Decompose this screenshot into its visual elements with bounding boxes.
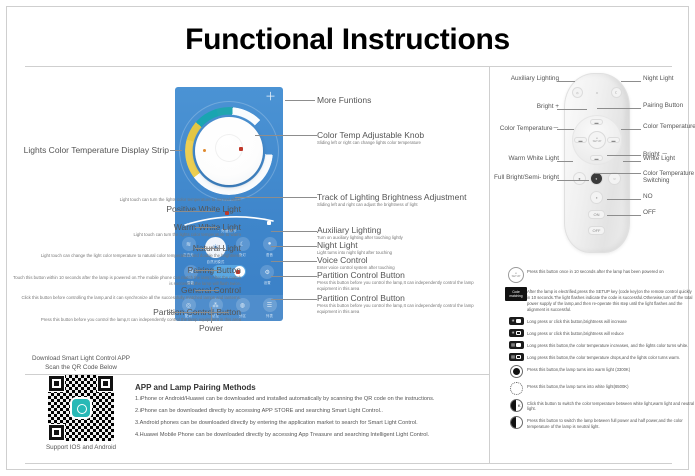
callout-partition-control-left: Partition Control Button Press this butt… — [13, 307, 241, 323]
app-pairing-item: 2.iPhone can be downloaded directly by a… — [135, 408, 383, 414]
plus-icon[interactable]: ＋ — [265, 93, 276, 101]
remote-label-no: NO — [643, 193, 653, 200]
remote-label-bright-up: Bright + — [501, 103, 559, 110]
leader-line — [211, 307, 212, 323]
remote-key-auxiliary-lighting[interactable]: ☼ — [572, 87, 583, 98]
legend-text: Long press or click this button,brightne… — [527, 329, 624, 337]
phone-btn-label: 设置 — [264, 280, 271, 285]
leader-line — [195, 227, 217, 228]
remote-key-warm-white-light[interactable]: ● — [573, 172, 586, 185]
leader-line — [621, 129, 641, 130]
brightness-down-icon: ☀ — [505, 329, 527, 337]
knob-face[interactable] — [195, 117, 263, 185]
leader-line — [557, 109, 587, 110]
remote-key-night-light[interactable]: ☾ — [611, 87, 622, 98]
legend-text: Click this button to switch the color te… — [527, 399, 695, 413]
leader-line — [271, 231, 317, 232]
legend-text: Press this button,the lamp turns into wa… — [527, 365, 630, 373]
list-icon[interactable]: ☰ — [263, 298, 277, 312]
leader-line — [195, 248, 225, 249]
app-pairing-item: 4.Huawei Mobile Phone can be downloaded … — [135, 432, 429, 438]
legend-row-warm-light: Press this button,the lamp turns into wa… — [505, 365, 695, 378]
leader-line — [255, 135, 317, 136]
leader-line — [557, 180, 589, 181]
callout-power: Power — [199, 323, 223, 333]
remote-key-bright-down[interactable]: ▬ — [590, 155, 603, 161]
qr-finder-bl — [48, 424, 65, 441]
white-light-icon — [505, 382, 527, 395]
remote-label-color-temp-switching: Color Temperature Switching — [643, 170, 695, 184]
leader-line — [595, 173, 641, 174]
remote-key-pairing[interactable]: ≋ SETUP — [588, 131, 606, 149]
remote-key-full-semi-bright[interactable]: ◑ — [590, 191, 603, 204]
qr-line1: Download Smart Light Control APP — [27, 354, 135, 363]
legend-text: Press this button to switch the lamp bet… — [527, 416, 695, 430]
legend-text: Long press this button,the color tempera… — [527, 341, 688, 349]
setup-button-icon: ≋SETUP — [505, 267, 527, 283]
remote-key-bright-up[interactable]: ▬ — [590, 119, 603, 125]
qr-line2: Scan the QR Code Below — [27, 363, 135, 372]
callout-night-light: Night Light Light turns into night light… — [317, 240, 492, 256]
legend-row-white-light: Press this button,the lamp turns into wh… — [505, 382, 695, 395]
page-title: Functional Instructions — [7, 23, 688, 57]
leader-line — [557, 129, 574, 130]
leader-line — [170, 150, 182, 151]
phone-btn-settings[interactable]: ⚙ 设置 — [254, 265, 280, 285]
legend-row-half-power: Press this button to switch the lamp bet… — [505, 416, 695, 430]
color-temp-knob[interactable] — [185, 107, 273, 195]
mic-icon[interactable]: ● — [263, 237, 277, 251]
legend-row-color-temp-down: ▤ Long press this button,the color tempe… — [505, 353, 695, 361]
remote-led — [596, 92, 598, 94]
leader-line — [167, 312, 229, 313]
app-pairing-heading: APP and Lamp Pairing Methods — [135, 383, 256, 392]
legend-row-setup: ≋SETUP Press this button once in 10 seco… — [505, 267, 695, 283]
code-matching-icon: Code matching — [505, 287, 527, 301]
legend-row-brightness-down: ☀ Long press or click this button,bright… — [505, 329, 695, 337]
remote-control: ☼ ☾ ≋ SETUP ▬ ▬ ▬ ▬ ● ◐ ○ ◑ ON OFF — [564, 73, 630, 253]
leader-line — [607, 199, 641, 200]
qr-logo — [72, 399, 90, 417]
callout-natural-light: Natural Light Light touch can change the… — [13, 243, 241, 259]
callout-general-control: General Control Click this button before… — [13, 285, 241, 301]
legend-row-color-temp-up: ▤ Long press this button,the color tempe… — [505, 341, 695, 349]
divider-top — [25, 66, 672, 67]
remote-key-on[interactable]: ON — [588, 210, 605, 219]
qr-block: Download Smart Light Control APP Scan th… — [27, 354, 135, 452]
legend-text: After the lamp is electrified,press the … — [527, 287, 695, 313]
instruction-sheet: Functional Instructions ＋ · 亮度调节 · — [6, 6, 689, 470]
qr-finder-tl — [48, 375, 65, 392]
brightness-up-icon: ☀ — [505, 317, 527, 325]
callout-brightness-track: Track of Lighting Brightness Adjustment … — [317, 192, 492, 208]
half-moon-icon: K — [505, 399, 527, 412]
divider-bottom — [25, 463, 672, 464]
color-temp-down-icon: ▤ — [505, 353, 527, 361]
qr-finder-tr — [97, 375, 114, 392]
marker-strip — [203, 149, 206, 152]
phone-btn-label: 自然光模式 — [207, 259, 225, 264]
remote-label-color-temp-up: Color Temperature+ — [643, 123, 695, 130]
remote-label-white-light: White Light — [643, 155, 675, 162]
leader-line — [195, 290, 219, 291]
leader-line — [621, 81, 641, 82]
qr-caption: Support IOS and Android — [27, 443, 135, 452]
warm-light-icon — [505, 365, 527, 378]
phone-btn-label: 语音 — [266, 252, 273, 257]
legend-list: ≋SETUP Press this button once in 10 seco… — [505, 267, 695, 434]
callout-voice-control: Voice Control Enter voice control system… — [317, 255, 492, 271]
remote-key-off[interactable]: OFF — [588, 226, 605, 235]
legend-row-brightness-up: ☀ Long press or click this button,bright… — [505, 317, 695, 325]
remote-label-night-light: Night Light — [643, 75, 674, 82]
leader-line — [607, 215, 641, 216]
marker-knob — [239, 147, 243, 151]
legend-row-code-matching: Code matching After the lamp is electrif… — [505, 287, 695, 313]
setup-label: SETUP — [593, 140, 602, 143]
phone-btn-label: 列表 — [266, 313, 273, 318]
leader-line — [271, 246, 317, 247]
remote-key-color-temp-up[interactable]: ▬ — [607, 137, 620, 143]
qr-code-image — [48, 375, 114, 441]
color-temp-up-icon: ▤ — [505, 341, 527, 349]
legend-text: Press this button once in 10 seconds aft… — [527, 267, 664, 275]
callout-pairing-button: Pairing Button Touch this button within … — [13, 265, 241, 287]
remote-label-auxiliary-lighting: Auxiliary Lighting — [501, 75, 559, 82]
leader-line — [557, 81, 575, 82]
callout-auxiliary-lighting: Auxiliary Lighting Turn on auxiliary lig… — [317, 225, 492, 241]
leader-line — [607, 155, 641, 156]
leader-line — [271, 276, 317, 277]
leader-line — [195, 270, 219, 271]
remote-label-color-temp-down: Color Temperature－ — [493, 123, 559, 132]
leader-line — [271, 261, 317, 262]
phone-btn-partition-c[interactable]: ☰ 列表 — [257, 298, 283, 318]
app-pairing-item: 3.Android phones can be downloaded direc… — [135, 420, 418, 426]
callout-partition-control-1: Partition Control Button Press this butt… — [317, 270, 492, 292]
callout-color-temp-knob: Color Temp Adjustable Knob Sliding left … — [317, 130, 487, 146]
phone-btn-voice-control[interactable]: ● 语音 — [257, 237, 283, 264]
callout-partition-control-2: Partition Control Button Press this butt… — [317, 293, 492, 315]
callout-more-functions: More Funtions — [317, 95, 477, 105]
leader-line — [623, 161, 641, 162]
remote-label-warm-white-light: Warm White Light — [497, 155, 559, 162]
remote-key-color-temp-down[interactable]: ▬ — [574, 137, 587, 143]
leader-line — [597, 108, 641, 109]
legend-text: Long press or click this button,brightne… — [527, 317, 627, 325]
callout-warm-white: Warm White Light Light touch can turn th… — [13, 222, 241, 238]
app-pairing-item: 1.iPhone or Android/Huawei can be downlo… — [135, 396, 434, 402]
leader-line — [175, 211, 215, 212]
leader-line — [235, 197, 317, 198]
leader-line — [271, 299, 317, 300]
legend-text: Long press this button,the color tempera… — [527, 353, 680, 361]
callout-color-temp-strip: Lights Color Temperature Display Strip — [13, 145, 169, 155]
leader-line — [557, 161, 573, 162]
half-power-icon — [505, 416, 527, 429]
legend-text: Press this button,the lamp turns into wh… — [527, 382, 628, 390]
leader-line — [285, 100, 315, 101]
remote-label-full-semi-bright: Full Bright/Semi- bright — [491, 174, 559, 181]
legend-row-half-moon: K Click this button to switch the color … — [505, 399, 695, 413]
remote-label-pairing-button: Pairing Button — [643, 102, 683, 109]
remote-label-off: OFF — [643, 209, 656, 216]
